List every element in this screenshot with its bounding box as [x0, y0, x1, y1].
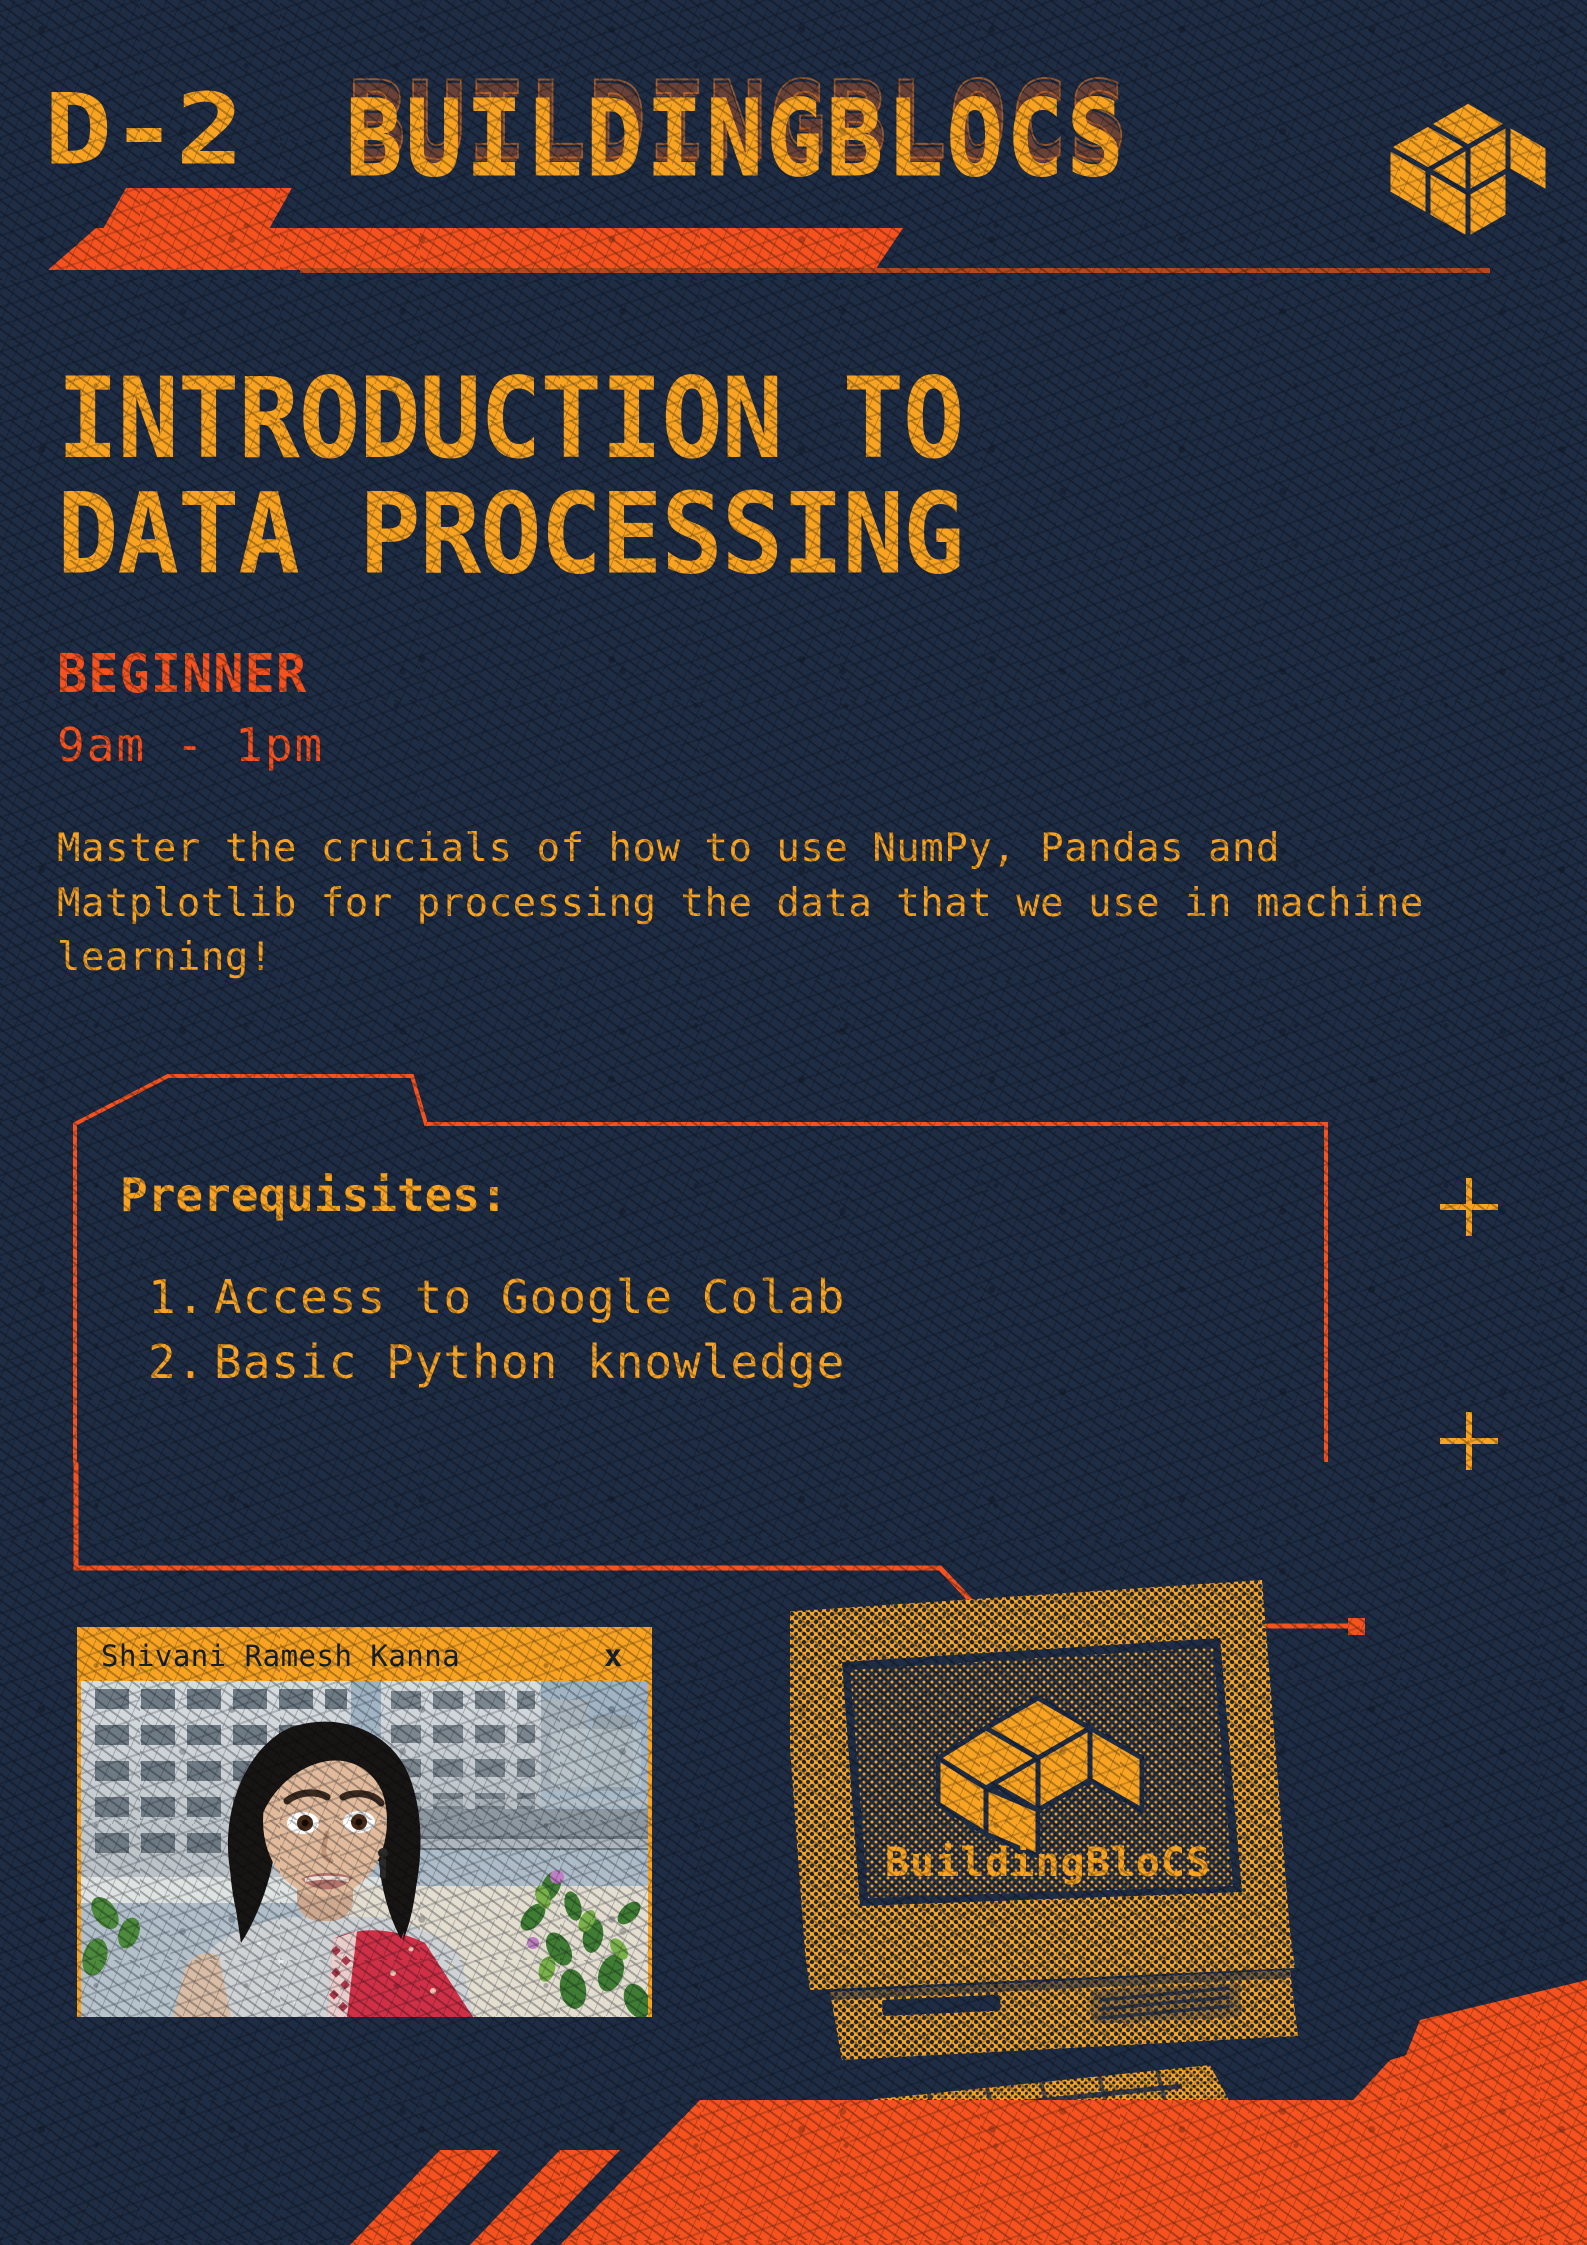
- monitor-screen-text: BuildingBloCS: [885, 1840, 1211, 1886]
- plus-decor-icon: [1440, 1178, 1498, 1236]
- speaker-name: Shivani Ramesh Kanna: [101, 1639, 604, 1673]
- speaker-card[interactable]: Shivani Ramesh Kanna x: [77, 1627, 652, 2017]
- prerequisites-heading: Prerequisites:: [120, 1168, 508, 1222]
- title-line-1: INTRODUCTION TO: [57, 354, 963, 484]
- title-line-2: DATA PROCESSING: [57, 469, 963, 599]
- isometric-blocks-logo-icon: [1383, 83, 1553, 253]
- close-icon[interactable]: x: [604, 1639, 632, 1674]
- day-badge: D-2: [44, 84, 242, 177]
- session-description: Master the crucials of how to use NumPy,…: [57, 822, 1522, 986]
- list-item-number: 2.: [148, 1330, 210, 1395]
- list-item-label: Basic Python knowledge: [214, 1330, 845, 1395]
- difficulty-level: BEGINNER: [57, 642, 307, 705]
- header-rule: [300, 268, 1490, 273]
- prerequisites-list: 1. Access to Google Colab 2. Basic Pytho…: [148, 1265, 845, 1396]
- list-item-label: Access to Google Colab: [214, 1265, 845, 1330]
- list-item: 1. Access to Google Colab: [148, 1265, 845, 1330]
- page-title: INTRODUCTION TO DATA PROCESSING: [57, 362, 963, 592]
- poster: D-2 BUILDINGBLOCS BUILDINGBLOCS INTRODUC…: [0, 0, 1587, 2245]
- list-item-number: 1.: [148, 1265, 210, 1330]
- bottom-orange-stripes: [0, 1960, 1587, 2245]
- brand-wordmark: BUILDINGBLOCS: [345, 78, 1126, 202]
- speaker-card-titlebar: Shivani Ramesh Kanna x: [81, 1631, 648, 1681]
- list-item: 2. Basic Python knowledge: [148, 1330, 845, 1395]
- session-time: 9am - 1pm: [57, 718, 324, 772]
